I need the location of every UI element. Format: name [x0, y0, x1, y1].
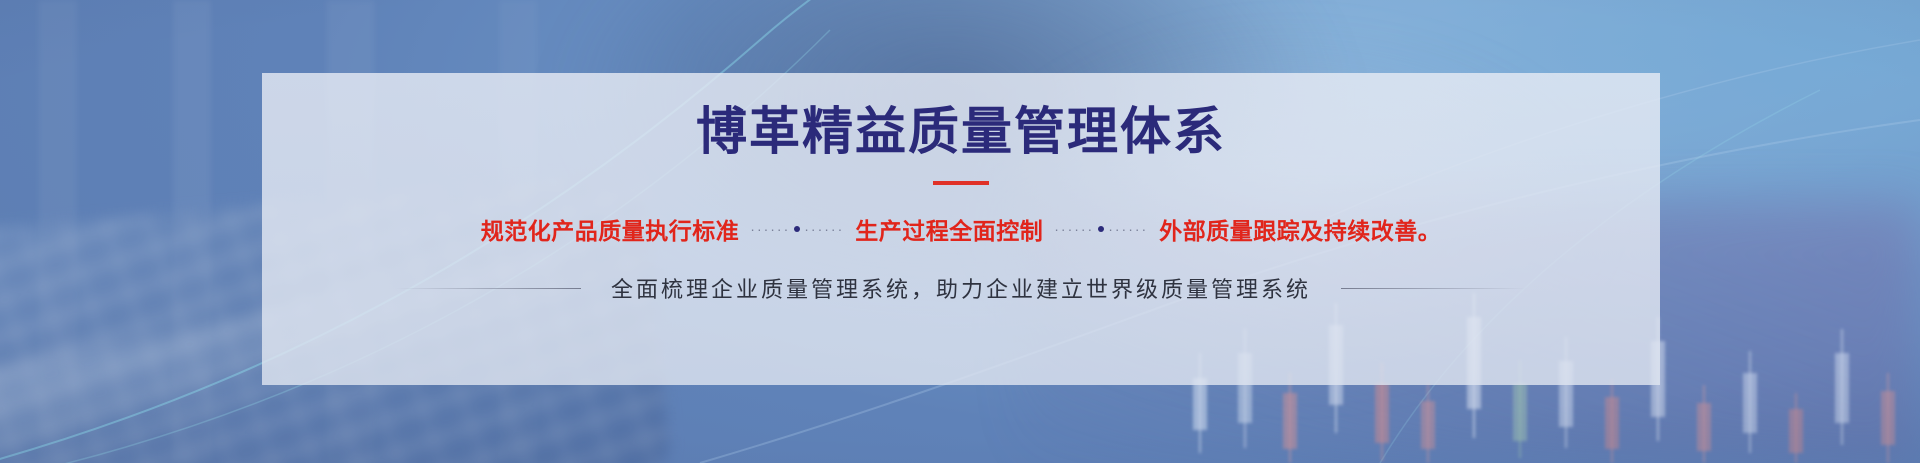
- page-title: 博革精益质量管理体系: [696, 106, 1226, 157]
- separator-bullet-icon: [794, 226, 800, 232]
- tagline-row: 全面梳理企业质量管理系统，助力企业建立世界级质量管理系统: [396, 272, 1526, 304]
- separator-dots-left: ······: [1054, 222, 1094, 236]
- subtitle-segment-3: 外部质量跟踪及持续改善。: [1159, 212, 1441, 246]
- separator-bullet-icon: [1098, 226, 1104, 232]
- subtitle-separator-1: ······ ······: [750, 222, 844, 236]
- quality-management-banner: 博革精益质量管理体系 规范化产品质量执行标准 ······ ······ 生产过…: [0, 0, 1920, 463]
- subtitle-row: 规范化产品质量执行标准 ······ ······ 生产过程全面控制 ·····…: [481, 212, 1441, 246]
- title-divider-rule: [933, 181, 989, 185]
- content-panel: 博革精益质量管理体系 规范化产品质量执行标准 ······ ······ 生产过…: [262, 73, 1660, 385]
- tagline-rule-right: [1341, 288, 1526, 289]
- tagline-text: 全面梳理企业质量管理系统，助力企业建立世界级质量管理系统: [611, 272, 1311, 304]
- tagline-rule-left: [396, 288, 581, 289]
- separator-dots-left: ······: [750, 222, 790, 236]
- subtitle-segment-1: 规范化产品质量执行标准: [481, 212, 740, 246]
- subtitle-separator-2: ······ ······: [1054, 222, 1148, 236]
- separator-dots-right: ······: [804, 222, 844, 236]
- separator-dots-right: ······: [1108, 222, 1148, 236]
- subtitle-segment-2: 生产过程全面控制: [855, 212, 1043, 246]
